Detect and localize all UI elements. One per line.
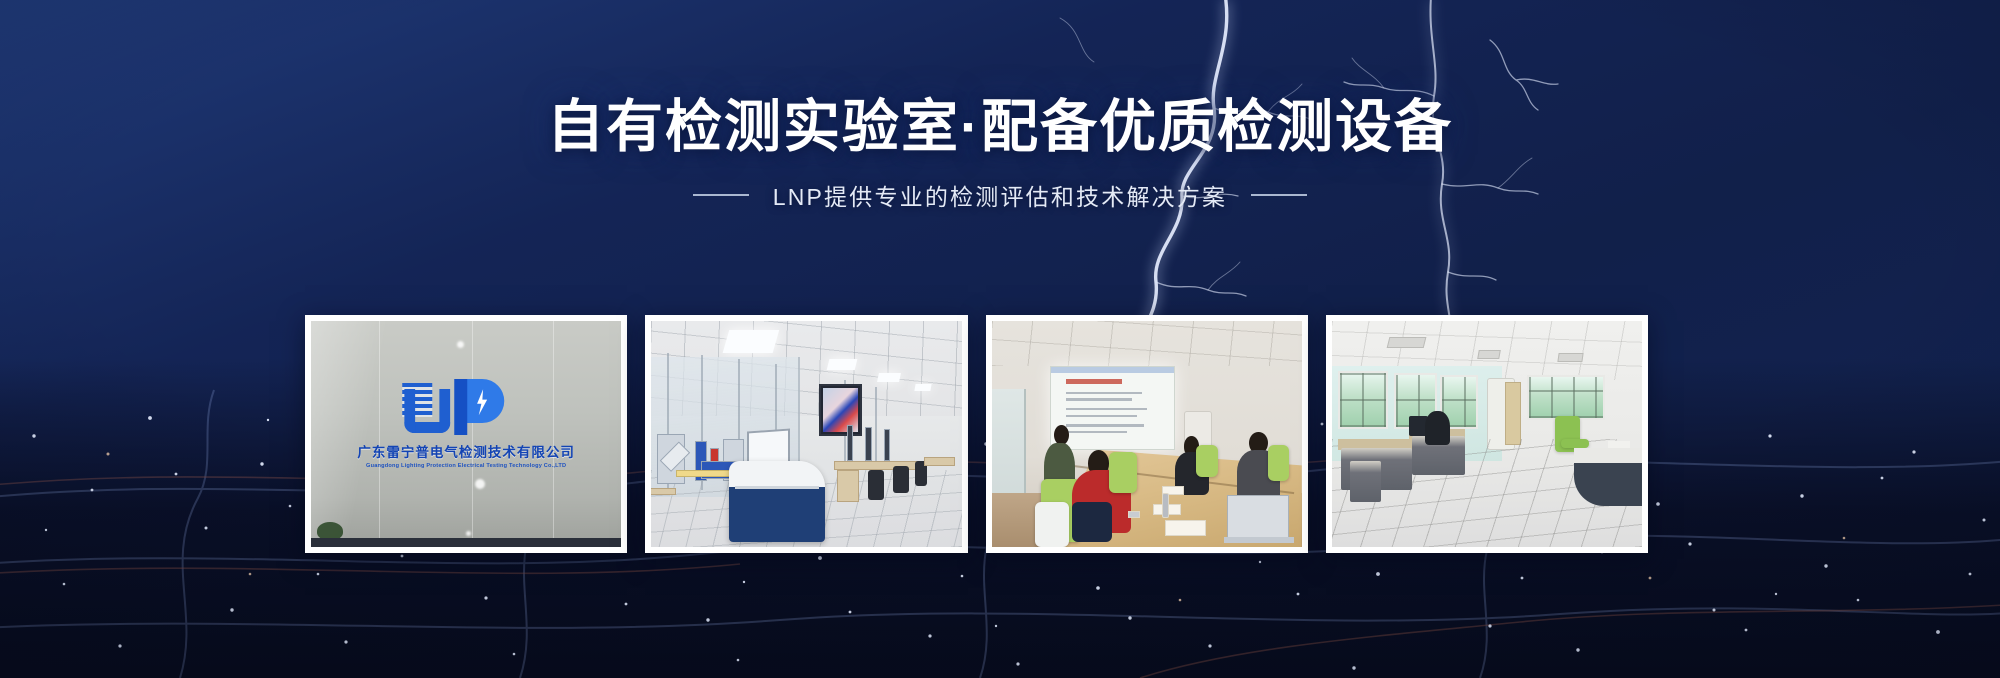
company-name-en: Guangdong Lighting Protection Electrical… [357,463,575,469]
training-meeting-room-photo [992,321,1302,547]
reception-counter [1574,448,1642,507]
laptop [1227,495,1289,538]
page-subtitle-row: LNP提供专业的检测评估和技术解决方案 [0,178,2000,212]
office-area-photo [1332,321,1642,547]
company-logo-wall-photo: 广东雷宁普电气检测技术有限公司 Guangdong Lighting Prote… [311,321,621,547]
lnp-logo: 广东雷宁普电气检测技术有限公司 Guangdong Lighting Prote… [357,375,575,469]
gallery-item-company-logo-wall[interactable]: 广东雷宁普电气检测技术有限公司 Guangdong Lighting Prote… [305,315,627,553]
lnp-logo-mark [402,375,530,437]
left-rule-divider [693,194,749,196]
page-title: 自有检测实验室·配备优质检测设备 [0,96,2000,160]
wall-display [819,384,862,436]
hero-banner: 自有检测实验室·配备优质检测设备 LNP提供专业的检测评估和技术解决方案 [0,0,2000,678]
page-subtitle: LNP提供专业的检测评估和技术解决方案 [773,178,1228,212]
gallery-item-testing-laboratory[interactable] [645,315,967,553]
company-name-cn: 广东雷宁普电气检测技术有限公司 [357,441,575,461]
testing-laboratory-photo [651,321,961,547]
gallery-item-training-meeting-room[interactable] [986,315,1308,553]
photo-gallery: 广东雷宁普电气检测技术有限公司 Guangdong Lighting Prote… [305,315,1648,553]
gallery-item-office-area[interactable] [1326,315,1648,553]
right-rule-divider [1251,194,1307,196]
projector-screen [1050,366,1174,450]
banner-text-block: 自有检测实验室·配备优质检测设备 LNP提供专业的检测评估和技术解决方案 [0,96,2000,212]
control-console [729,461,825,542]
